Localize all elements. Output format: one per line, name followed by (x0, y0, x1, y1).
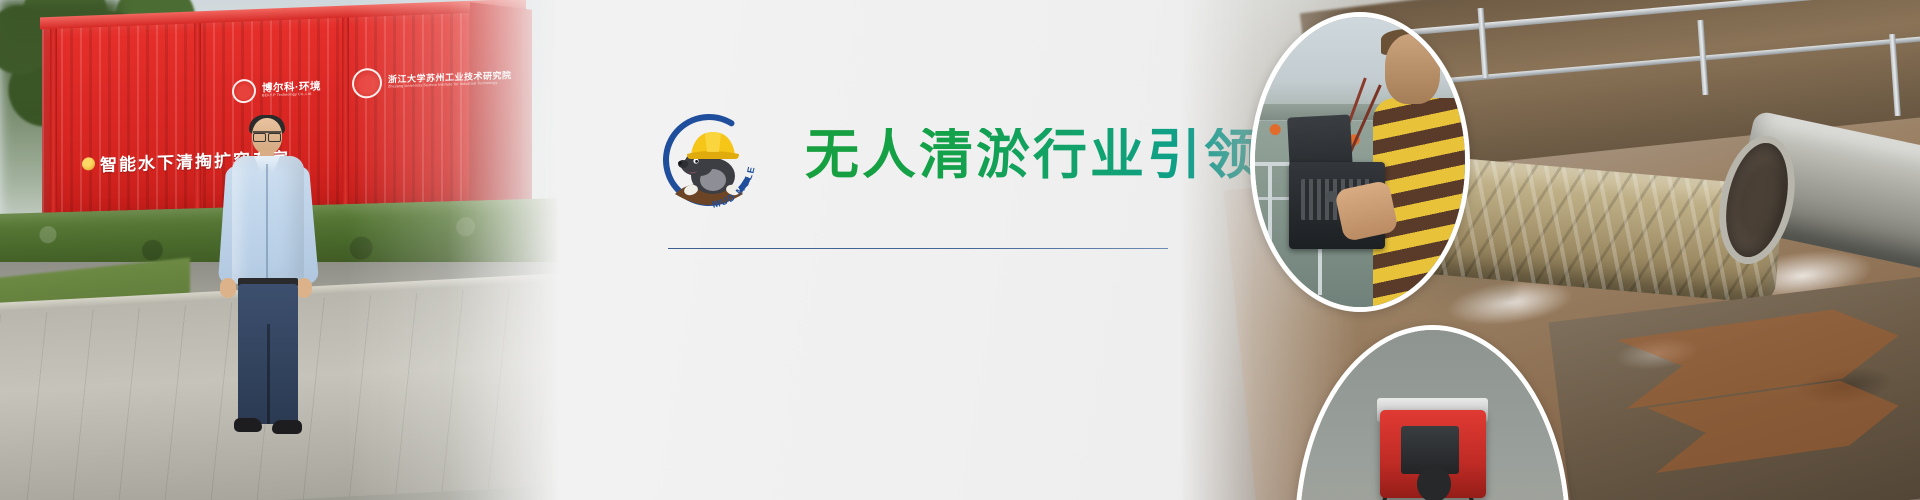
mud-mole-logo: MUD MOLE (655, 106, 763, 214)
institute-seal-icon (352, 68, 382, 99)
hero-banner: 博尔科·环境 BEKY.P Technology Co.,Ltd. 浙江大学苏州… (0, 0, 1920, 500)
container-frame-post (342, 9, 349, 224)
slogan-bullet-icon (82, 157, 95, 170)
right-shoe (272, 420, 302, 434)
robot-wheel (1417, 466, 1451, 500)
glasses-icon (253, 131, 281, 140)
divider-line (668, 248, 1168, 249)
left-shoe (234, 418, 262, 432)
inset-photo-operator (1250, 12, 1470, 312)
left-hand (220, 278, 236, 298)
shirt-placket (266, 164, 268, 280)
brand-seal-icon (232, 79, 256, 104)
engineer-figure (214, 118, 322, 436)
inset-photo-dredging-robot (1295, 325, 1570, 500)
brand-primary-en: BEKY.P Technology Co.,Ltd. (262, 92, 321, 98)
container-brand-primary: 博尔科·环境 BEKY.P Technology Co.,Ltd. (232, 76, 321, 103)
container-brand-secondary: 浙江大学苏州工业技术研究院 Zhejiang University Suzhou… (352, 63, 512, 99)
center-brand-block: MUD MOLE 无人清淤行业引领者 (660, 96, 1180, 266)
railing-post (1268, 162, 1272, 295)
operator-head (1385, 34, 1440, 104)
trouser-seam (267, 324, 270, 424)
shirt (232, 156, 304, 284)
container-frame-post (194, 15, 201, 230)
left-photo: 博尔科·环境 BEKY.P Technology Co.,Ltd. 浙江大学苏州… (0, 0, 560, 500)
right-hand (296, 278, 312, 298)
container-frame-post (50, 21, 57, 236)
